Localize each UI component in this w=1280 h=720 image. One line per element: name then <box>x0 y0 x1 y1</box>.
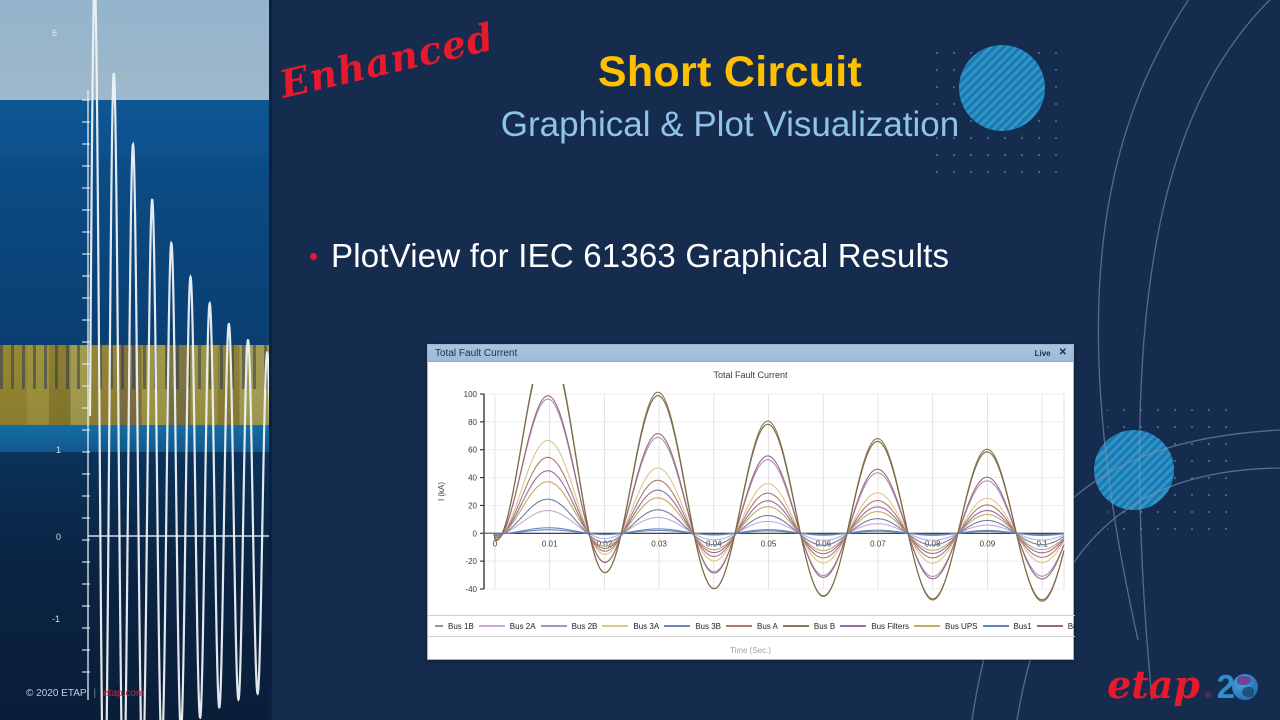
legend-item[interactable]: Bus 1B <box>448 622 510 631</box>
legend-item[interactable]: Bus 3B <box>695 622 757 631</box>
svg-text:1: 1 <box>56 445 61 455</box>
window-titlebar[interactable]: Total Fault Current Live ✕ <box>428 345 1073 362</box>
y-tick-labels: -40-20020406080100 <box>464 390 478 594</box>
svg-text:-20: -20 <box>465 557 477 566</box>
page-title: Short Circuit <box>280 48 1180 97</box>
svg-text:0.05: 0.05 <box>761 539 777 548</box>
legend-item-label: Bus 3B <box>695 622 721 631</box>
copyright-text: © 2020 ETAP <box>26 688 87 699</box>
svg-text:0: 0 <box>473 529 478 538</box>
legend-item-label: Bus 3A <box>633 622 659 631</box>
x-tick-labels: 00.010.020.030.040.050.060.070.080.090.1 <box>493 539 1049 548</box>
chart-title: Total Fault Current <box>428 370 1073 380</box>
legend-item[interactable]: Bus1 <box>1014 622 1068 631</box>
footer-copyright: © 2020 ETAP | etap.com <box>26 688 144 699</box>
etap-logo: etap ® 2 <box>1107 666 1258 704</box>
legend-item[interactable]: Bus2 <box>1068 622 1075 631</box>
y-axis-title: I (kA) <box>437 482 446 501</box>
svg-text:0.01: 0.01 <box>542 539 558 548</box>
bullet-item-label: PlotView for IEC 61363 Graphical Results <box>331 237 949 275</box>
globe-icon <box>1232 674 1258 700</box>
legend-item-label: Bus2 <box>1068 622 1075 631</box>
legend-item-label: Bus1 <box>1014 622 1032 631</box>
svg-text:0.03: 0.03 <box>651 539 667 548</box>
legend-color-swatch <box>602 625 628 627</box>
svg-text:20: 20 <box>468 501 477 510</box>
legend-color-swatch <box>664 625 690 627</box>
legend-item-label: Bus UPS <box>945 622 977 631</box>
legend-color-swatch <box>1037 625 1063 627</box>
x-axis-title: Time (Sec.) <box>428 646 1073 655</box>
legend-item-label: Bus 1B <box>448 622 474 631</box>
legend-color-swatch <box>541 625 567 627</box>
legend-color-swatch <box>726 625 752 627</box>
footer-separator: | <box>94 688 97 699</box>
waveform-overlay-graphic: 6 1 0 -1 <box>0 0 272 720</box>
legend-color-swatch <box>783 625 809 627</box>
legend-item[interactable]: Bus 2A <box>510 622 572 631</box>
svg-text:40: 40 <box>468 474 477 483</box>
chart-legend[interactable]: Bus 1BBus 2ABus 2BBus 3ABus 3BBus ABus B… <box>428 615 1075 637</box>
registered-trademark-icon: ® <box>1205 690 1212 700</box>
legend-item[interactable]: Bus Filters <box>871 622 945 631</box>
legend-item[interactable]: Bus B <box>814 622 871 631</box>
plot-view-window[interactable]: Total Fault Current Live ✕ Total Fault C… <box>427 344 1074 660</box>
anniversary-mark: 2 <box>1217 670 1258 703</box>
bullet-item: PlotView for IEC 61363 Graphical Results <box>310 237 949 275</box>
left-photo-panel: 6 1 0 -1 <box>0 0 272 720</box>
series-lines <box>484 384 1064 601</box>
legend-partial-left <box>435 625 443 627</box>
svg-text:0: 0 <box>56 532 61 542</box>
svg-text:-40: -40 <box>465 585 477 594</box>
svg-text:100: 100 <box>464 390 478 399</box>
legend-item[interactable]: Bus A <box>757 622 814 631</box>
window-title: Total Fault Current <box>435 348 1035 359</box>
close-icon[interactable]: ✕ <box>1059 348 1067 358</box>
svg-text:-1: -1 <box>52 614 60 624</box>
legend-item[interactable]: Bus UPS <box>945 622 1013 631</box>
legend-item-label: Bus 2A <box>510 622 536 631</box>
legend-color-swatch <box>479 625 505 627</box>
legend-item[interactable]: Bus 2B <box>572 622 634 631</box>
chart-body: Total Fault Current -40-20020406080100 0… <box>428 362 1073 659</box>
plot-canvas[interactable]: -40-20020406080100 00.010.020.030.040.05… <box>428 384 1075 612</box>
etap-wordmark: etap <box>1107 666 1200 704</box>
plot-area[interactable]: -40-20020406080100 00.010.020.030.040.05… <box>428 384 1075 612</box>
svg-text:I (kA): I (kA) <box>437 482 446 501</box>
panel-right-edge <box>269 0 272 720</box>
svg-text:80: 80 <box>468 418 477 427</box>
legend-color-swatch <box>983 625 1009 627</box>
svg-text:6: 6 <box>52 28 57 38</box>
legend-item[interactable]: Bus 3A <box>633 622 695 631</box>
legend-item-label: Bus B <box>814 622 835 631</box>
legend-color-swatch <box>914 625 940 627</box>
live-status-badge: Live <box>1035 349 1051 358</box>
presentation-slide: 6 1 0 -1 <box>0 0 1280 720</box>
svg-text:60: 60 <box>468 446 477 455</box>
legend-item-label: Bus 2B <box>572 622 598 631</box>
page-subtitle: Graphical & Plot Visualization <box>280 105 1180 145</box>
svg-text:0.07: 0.07 <box>870 539 886 548</box>
legend-color-swatch <box>840 625 866 627</box>
legend-item-label: Bus Filters <box>871 622 909 631</box>
legend-item-label: Bus A <box>757 622 778 631</box>
bullet-dot-icon <box>310 253 317 260</box>
footer-website-link[interactable]: etap.com <box>103 688 144 699</box>
svg-text:0.09: 0.09 <box>980 539 996 548</box>
